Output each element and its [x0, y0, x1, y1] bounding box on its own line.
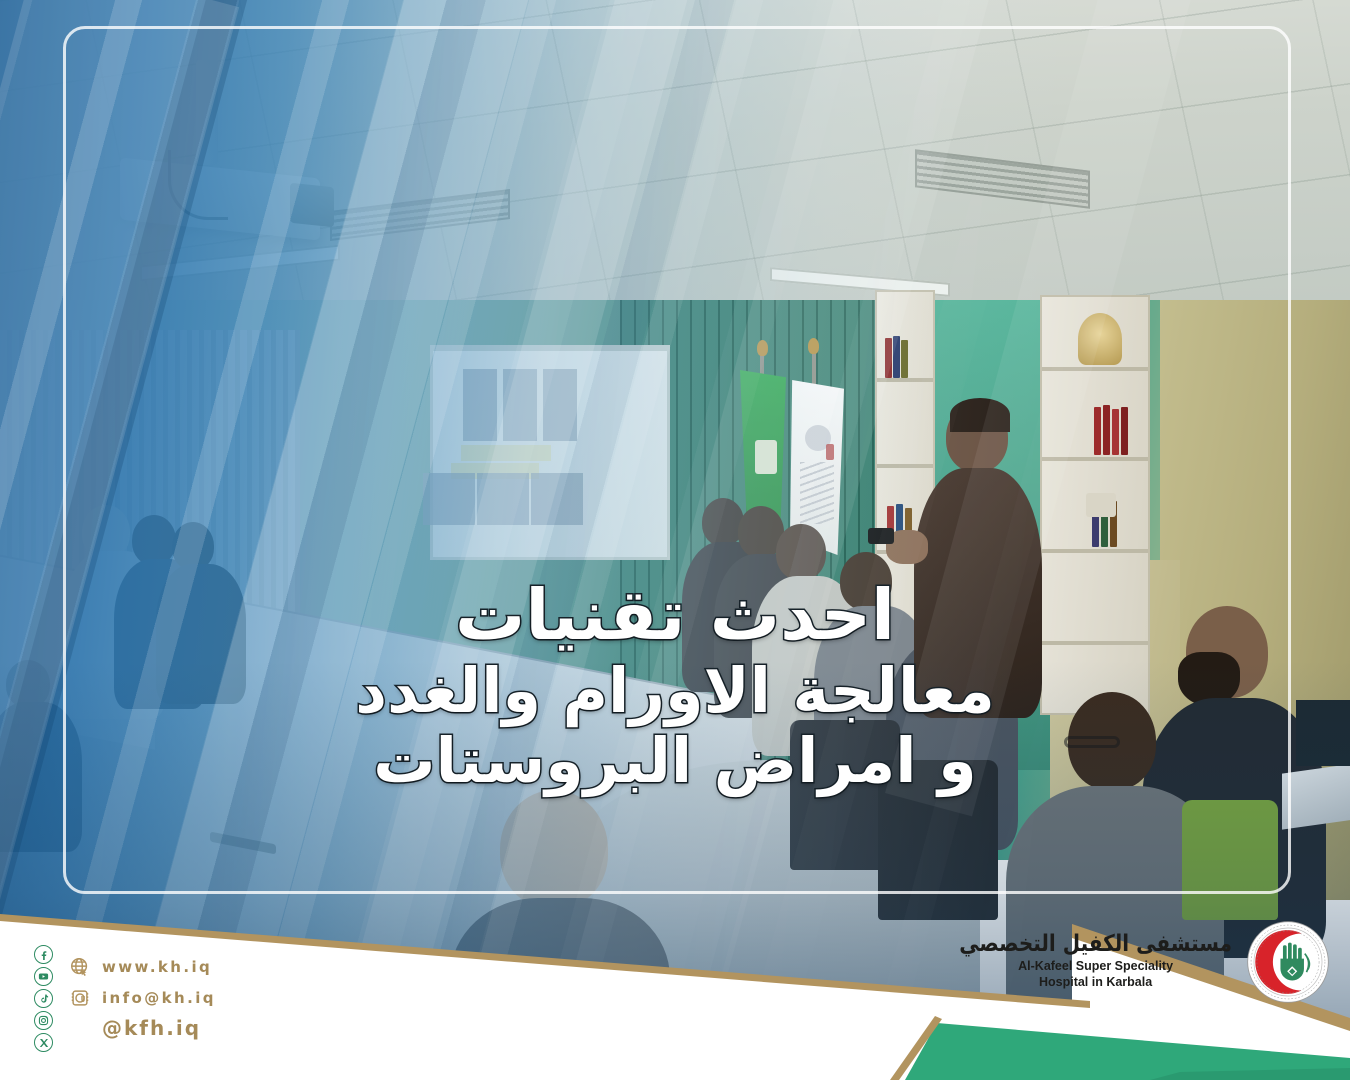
globe-icon — [69, 956, 91, 978]
facebook-icon[interactable] — [34, 945, 53, 964]
hospital-brand-block: مستشفى الكفيل التخصصي Al-Kafeel Super Sp… — [959, 920, 1330, 1004]
social-icons-column — [34, 945, 53, 1052]
email-row[interactable]: info@kh.iq — [69, 987, 216, 1009]
x-twitter-icon[interactable] — [34, 1033, 53, 1052]
hospital-name-block: مستشفى الكفيل التخصصي Al-Kafeel Super Sp… — [959, 933, 1232, 990]
contact-block: www.kh.iq info@kh.iq @kfh.iq — [34, 945, 216, 1052]
poster-root: احدث تقنيات معالجة الاورام والغدد و امرا… — [0, 0, 1350, 1080]
youtube-icon[interactable] — [34, 967, 53, 986]
website-row[interactable]: www.kh.iq — [69, 956, 216, 978]
email-text: info@kh.iq — [102, 989, 216, 1007]
hospital-name-english-line1: Al-Kafeel Super Speciality — [959, 959, 1232, 975]
hospital-name-english: Al-Kafeel Super Speciality Hospital in K… — [959, 959, 1232, 990]
social-handle-text: @kfh.iq — [69, 1016, 216, 1040]
page-title: احدث تقنيات معالجة الاورام والغدد و امرا… — [0, 576, 1350, 797]
headline-line-3: و امراض البروستات — [0, 726, 1350, 797]
tiktok-icon[interactable] — [34, 989, 53, 1008]
instagram-icon[interactable] — [34, 1011, 53, 1030]
headline-line-2: معالجة الاورام والغدد — [0, 656, 1350, 727]
contact-details-column: www.kh.iq info@kh.iq @kfh.iq — [69, 945, 216, 1040]
website-text: www.kh.iq — [102, 958, 212, 976]
hospital-name-arabic: مستشفى الكفيل التخصصي — [959, 932, 1232, 955]
al-kafeel-logo — [1246, 920, 1330, 1004]
email-icon — [69, 987, 91, 1009]
al-kafeel-logo-svg — [1246, 920, 1330, 1004]
hospital-name-english-line2: Hospital in Karbala — [959, 975, 1232, 991]
headline-line-1: احدث تقنيات — [0, 576, 1350, 656]
